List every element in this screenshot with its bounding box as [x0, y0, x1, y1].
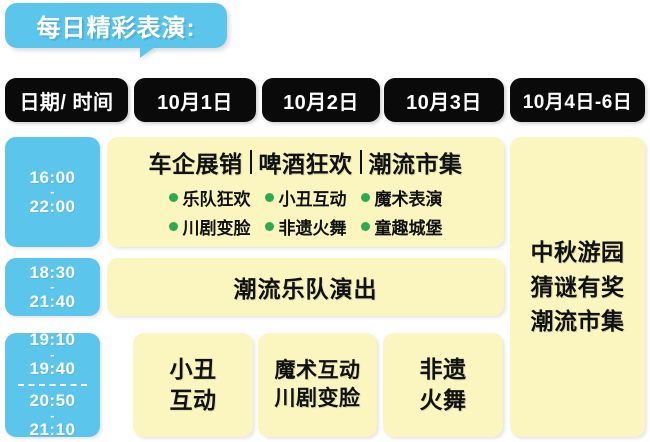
bullet-dot-icon [265, 222, 274, 231]
row3-cell-oct1: 小丑 互动 [133, 333, 253, 437]
row1-title-3: 潮流市集 [362, 145, 470, 179]
activity-item: 非遗火舞 [265, 214, 347, 239]
row3-cell-oct3-line1: 非遗 [420, 354, 467, 385]
row1-title-2: 啤酒狂欢 [252, 145, 360, 179]
row1-activities-line2: 川剧变脸 非遗火舞 童趣城堡 [169, 214, 443, 239]
row3-time-cell: 19:10 - 19:40 20:50 - 21:10 [5, 333, 100, 437]
header-col-oct4-6: 10月4日-6日 [510, 78, 645, 122]
row1-time-dash: - [50, 187, 55, 196]
activity-item: 魔术表演 [361, 185, 443, 210]
last-column-line1: 中秋游园 [531, 235, 625, 270]
activity-label: 乐队狂欢 [183, 185, 251, 210]
row1-content-cell: 车企展销 啤酒狂欢 潮流市集 乐队狂欢 小丑互动 魔术表演 [107, 137, 504, 247]
row3-cell-oct1-line1: 小丑 [170, 354, 217, 385]
speech-bubble-tail-icon [140, 46, 180, 58]
row2-time-dash: - [50, 282, 55, 291]
bullet-dot-icon [169, 222, 178, 231]
schedule-poster: 每日精彩表演: 日期/ 时间 10月1日 10月2日 10月3日 10月4日-6… [0, 0, 650, 442]
header-col-oct1: 10月1日 [134, 78, 256, 122]
row3-time-end-1: 19:40 [30, 360, 76, 378]
title-speech-bubble: 每日精彩表演: [5, 3, 227, 48]
header-col-oct2: 10月2日 [262, 78, 380, 122]
bullet-dot-icon [361, 222, 370, 231]
last-column-line2: 猜谜有奖 [531, 270, 625, 305]
row1-time-cell: 16:00 - 22:00 [5, 137, 100, 247]
row3-cell-oct3-line2: 火舞 [420, 385, 467, 416]
activity-item: 童趣城堡 [361, 214, 443, 239]
activity-label: 川剧变脸 [183, 214, 251, 239]
activity-label: 魔术表演 [375, 185, 443, 210]
header-col-oct3: 10月3日 [384, 78, 504, 122]
last-column-line3: 潮流市集 [531, 304, 625, 339]
row3-time-end-2: 21:10 [30, 421, 76, 439]
row3-cell-oct2-line1: 魔术互动 [275, 357, 361, 385]
row1-activities: 乐队狂欢 小丑互动 魔术表演 川剧变脸 非遗火舞 [169, 185, 443, 239]
row1-activities-line1: 乐队狂欢 小丑互动 魔术表演 [169, 185, 443, 210]
activity-label: 童趣城堡 [375, 214, 443, 239]
row1-time-end: 22:00 [30, 198, 76, 216]
activity-item: 川剧变脸 [169, 214, 251, 239]
row3-time-dash-2: - [50, 411, 55, 420]
row1-title-1: 车企展销 [142, 145, 250, 179]
row2-merged-content-cell: 潮流乐队演出 [107, 258, 504, 316]
row3-cell-oct3: 非遗 火舞 [383, 333, 503, 437]
row3-cell-oct2-line2: 川剧变脸 [275, 385, 361, 413]
activity-item: 小丑互动 [265, 185, 347, 210]
row3-time-dash-1: - [50, 350, 55, 359]
bullet-dot-icon [265, 193, 274, 202]
header-col-datetime: 日期/ 时间 [5, 78, 128, 122]
row2-time-end: 21:40 [30, 293, 76, 311]
dashed-divider [18, 384, 86, 386]
bullet-dot-icon [169, 193, 178, 202]
bullet-dot-icon [361, 193, 370, 202]
row3-cell-oct1-line2: 互动 [170, 385, 217, 416]
row1-title-group: 车企展销 啤酒狂欢 潮流市集 [142, 145, 470, 179]
activity-label: 小丑互动 [279, 185, 347, 210]
last-column-content-cell: 中秋游园 猜谜有奖 潮流市集 [510, 137, 645, 437]
row3-cell-oct2: 魔术互动 川剧变脸 [258, 333, 377, 437]
row2-time-cell: 18:30 - 21:40 [5, 258, 100, 316]
page-title: 每日精彩表演: [5, 3, 227, 48]
activity-item: 乐队狂欢 [169, 185, 251, 210]
activity-label: 非遗火舞 [279, 214, 347, 239]
